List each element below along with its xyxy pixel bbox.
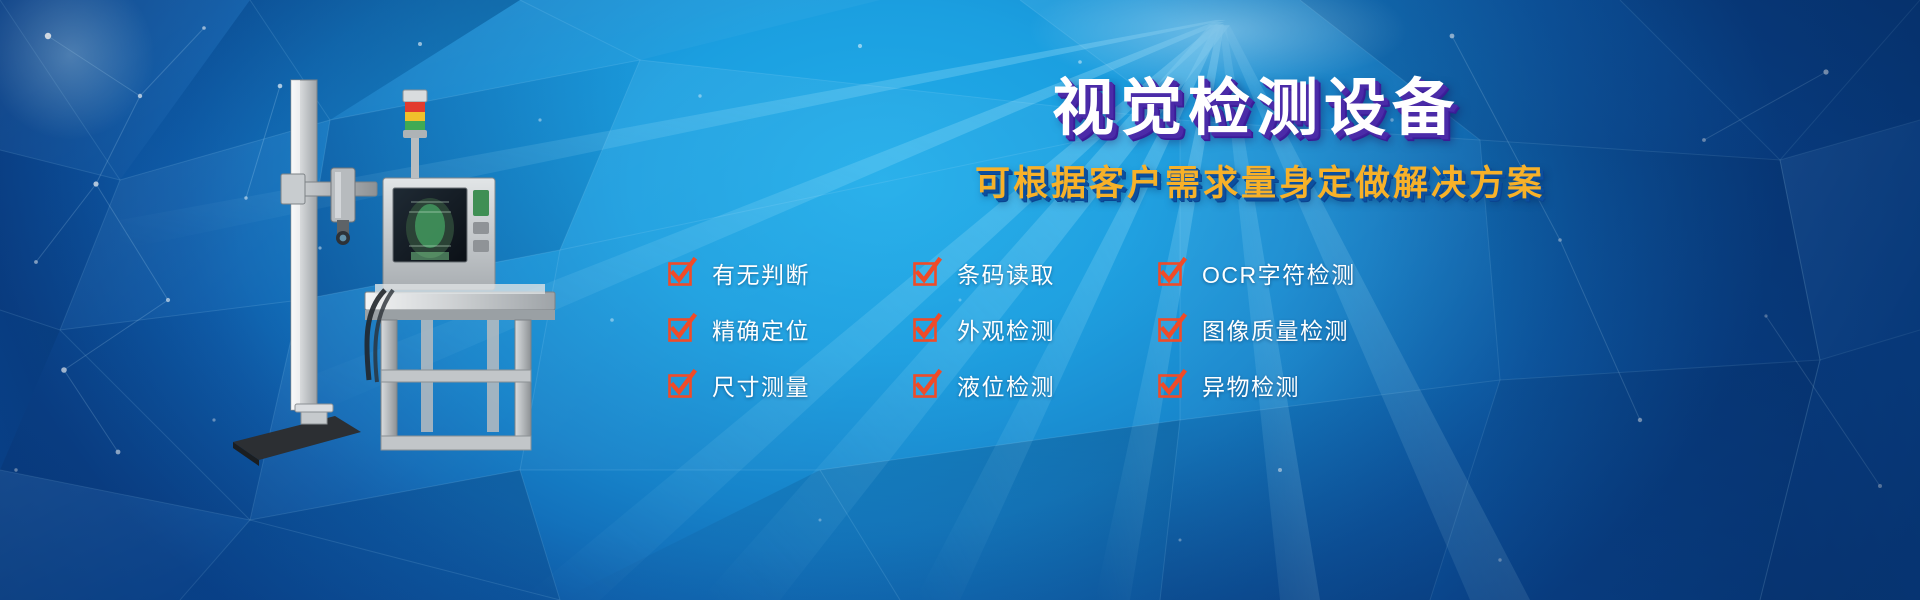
- feature-label: 条码读取: [957, 256, 1055, 290]
- checkbox-checked-icon: [668, 316, 694, 342]
- feature-label: 外观检测: [957, 312, 1055, 346]
- feature-label: 图像质量检测: [1202, 312, 1349, 346]
- checkbox-checked-icon: [1158, 372, 1184, 398]
- feature-label: 尺寸测量: [712, 368, 810, 402]
- page-subtitle: 可根据客户需求量身定做解决方案: [640, 166, 1890, 201]
- feature-label: OCR字符检测: [1202, 256, 1356, 290]
- feature-label: 异物检测: [1202, 368, 1300, 402]
- feature-label: 精确定位: [712, 312, 810, 346]
- feature-item[interactable]: 外观检测: [913, 301, 1158, 357]
- feature-item[interactable]: 精确定位: [668, 301, 913, 357]
- feature-item[interactable]: 尺寸测量: [668, 357, 913, 413]
- checkbox-checked-icon: [913, 260, 939, 286]
- checkbox-checked-icon: [913, 316, 939, 342]
- content-column: 视觉检测设备 可根据客户需求量身定做解决方案 有无判断 条码读取 OCR字符检测: [640, 78, 1890, 498]
- banner-hero: 视觉检测设备 可根据客户需求量身定做解决方案 有无判断 条码读取 OCR字符检测: [0, 0, 1920, 600]
- vision-inspection-machine-image: [215, 60, 595, 480]
- feature-item[interactable]: OCR字符检测: [1158, 245, 1418, 301]
- feature-item[interactable]: 条码读取: [913, 245, 1158, 301]
- checkbox-checked-icon: [668, 260, 694, 286]
- checkbox-checked-icon: [913, 372, 939, 398]
- feature-item[interactable]: 液位检测: [913, 357, 1158, 413]
- checkbox-checked-icon: [1158, 316, 1184, 342]
- checkbox-checked-icon: [668, 372, 694, 398]
- feature-item[interactable]: 有无判断: [668, 245, 913, 301]
- feature-list: 有无判断 条码读取 OCR字符检测 精确定位: [640, 245, 1890, 413]
- page-title: 视觉检测设备: [640, 78, 1890, 140]
- feature-item[interactable]: 图像质量检测: [1158, 301, 1418, 357]
- feature-label: 有无判断: [712, 256, 810, 290]
- feature-label: 液位检测: [957, 368, 1055, 402]
- checkbox-checked-icon: [1158, 260, 1184, 286]
- feature-item[interactable]: 异物检测: [1158, 357, 1418, 413]
